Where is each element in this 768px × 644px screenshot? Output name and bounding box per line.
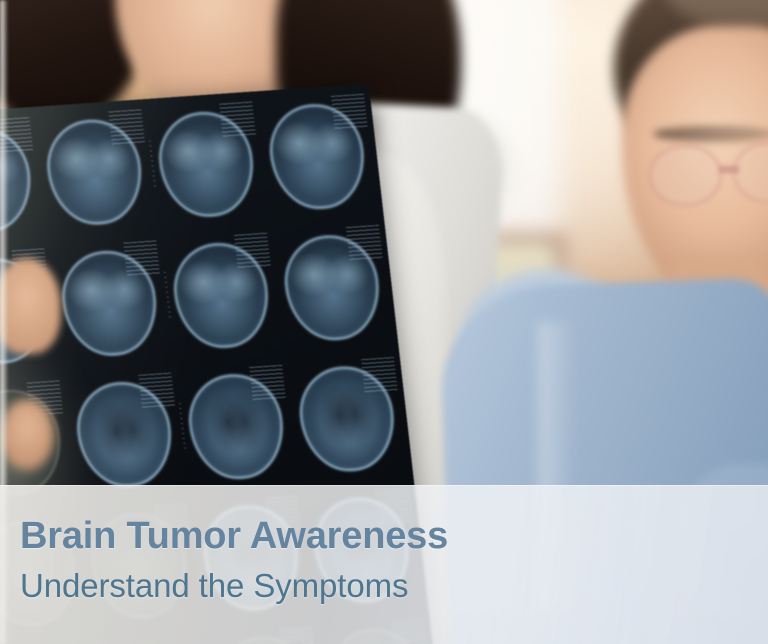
banner-headline: Brain Tumor Awareness xyxy=(20,517,448,555)
doctor-hand-lower xyxy=(0,399,54,470)
awareness-banner-card: Brain Tumor Awareness Understand the Sym… xyxy=(0,0,768,644)
eyeglasses-bridge xyxy=(719,166,739,172)
eyeglasses-lens-left xyxy=(649,145,722,206)
banner-text-block: Brain Tumor Awareness Understand the Sym… xyxy=(20,485,768,644)
banner-subheadline: Understand the Symptoms xyxy=(20,569,408,602)
